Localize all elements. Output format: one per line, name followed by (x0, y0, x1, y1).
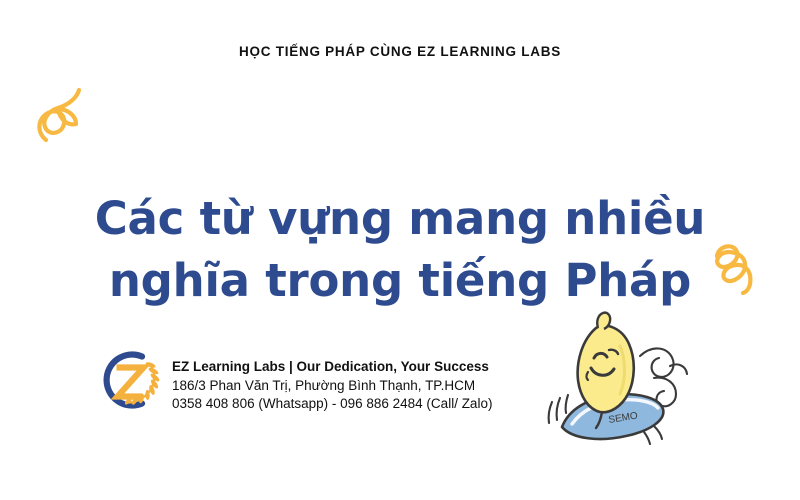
ez-learning-labs-logo-icon (93, 344, 165, 416)
page-title-line-2: nghĩa trong tiếng Pháp (0, 250, 800, 312)
footer-brand-line: EZ Learning Labs | Our Dedication, Your … (172, 358, 572, 377)
lemon-surfing-mascot-icon: SEMO (536, 306, 696, 454)
footer-block: EZ Learning Labs | Our Dedication, Your … (93, 336, 563, 426)
poster-canvas: HỌC TIẾNG PHÁP CÙNG EZ LEARNING LABS Các… (0, 0, 800, 500)
page-title: Các từ vựng mang nhiều nghĩa trong tiếng… (0, 188, 800, 312)
page-title-line-1: Các từ vựng mang nhiều (0, 188, 800, 250)
footer-address-line: 186/3 Phan Văn Trị, Phường Bình Thạnh, T… (172, 377, 572, 396)
eyebrow-heading: HỌC TIẾNG PHÁP CÙNG EZ LEARNING LABS (0, 44, 800, 59)
footer-phone-line: 0358 408 806 (Whatsapp) - 096 886 2484 (… (172, 395, 572, 414)
footer-contact-text: EZ Learning Labs | Our Dedication, Your … (172, 358, 572, 414)
leaf-loop-squiggle-icon (34, 88, 88, 146)
